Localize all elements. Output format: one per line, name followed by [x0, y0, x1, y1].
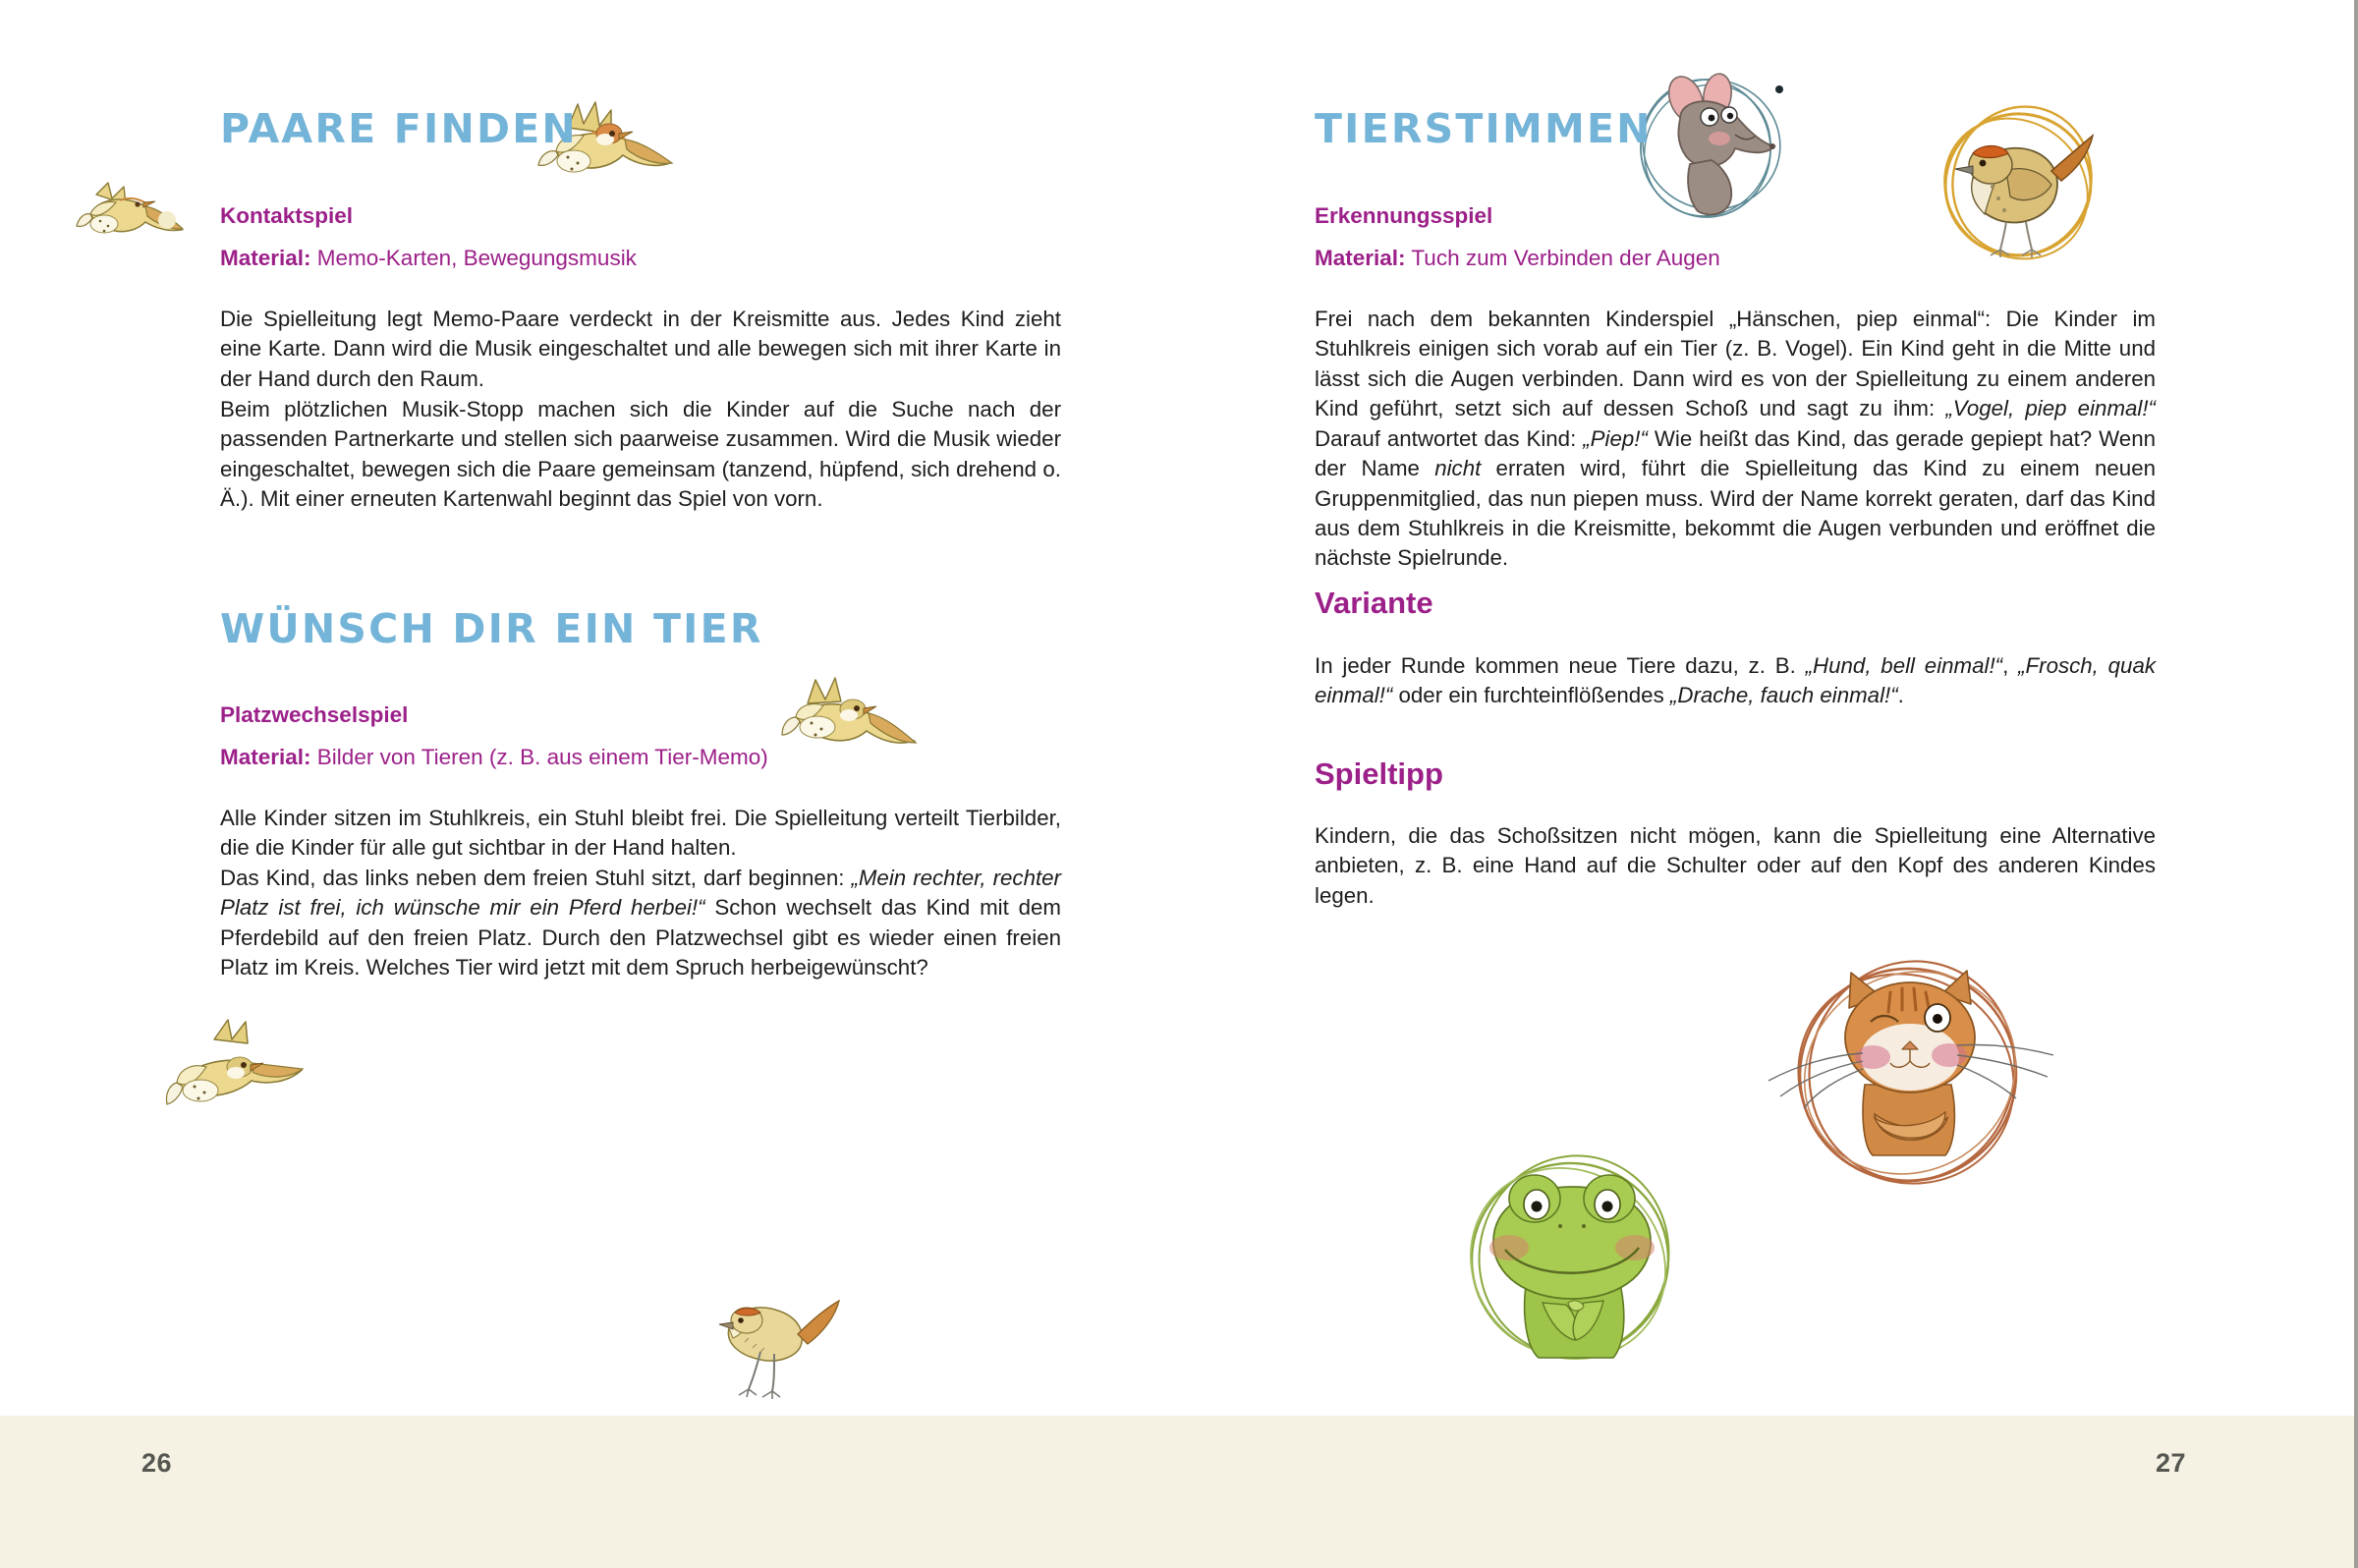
para-emph-nicht: nicht: [1434, 456, 1481, 480]
material-value: Bilder von Tieren (z. B. aus einem Tier-…: [317, 745, 768, 769]
para-quote-1: „Vogel, piep einmal!“: [1945, 396, 2156, 420]
para-seg-d: .: [1898, 683, 1904, 707]
game-title-paare-finden: PAARE FINDEN: [220, 109, 578, 149]
para-quote-1: „Hund, bell einmal!“: [1806, 653, 2003, 678]
bird-flying-mid-left-icon: [770, 666, 927, 784]
game-paragraph-1-wuensch-dir-ein-tier: Alle Kinder sitzen im Stuhlkreis, ein St…: [220, 804, 1061, 864]
material-label: Material:: [220, 246, 311, 270]
frog-in-circle-icon: [1444, 1136, 1705, 1391]
game-kind-tierstimmen: Erkennungsspiel: [1315, 202, 1492, 229]
para-seg-a: Das Kind, das links neben dem freien Stu…: [220, 866, 851, 890]
para-quote-2: „Piep!“: [1583, 426, 1648, 451]
game-material-tierstimmen: Material: Tuch zum Verbinden der Augen: [1315, 245, 1720, 271]
para-seg-b: ,: [2002, 653, 2018, 678]
page-number-left: 26: [141, 1448, 172, 1479]
para-seg-c: oder ein furchteinflößendes: [1392, 683, 1670, 707]
footer-band: [0, 1416, 2358, 1568]
page-number-right: 27: [2156, 1448, 2186, 1479]
para-seg-b: Darauf antwortet das Kind:: [1315, 426, 1583, 451]
game-paragraph-2-wuensch-dir-ein-tier: Das Kind, das links neben dem freien Stu…: [220, 864, 1061, 983]
subheading-variante: Variante: [1315, 588, 1433, 618]
game-title-wuensch-dir-ein-tier: WÜNSCH DIR EIN TIER: [220, 609, 763, 649]
game-paragraph-1-paare-finden: Die Spielleitung legt Memo-Paare verdeck…: [220, 305, 1061, 394]
spieltipp-paragraph: Kindern, die das Schoßsitzen nicht mögen…: [1315, 821, 2156, 911]
bird-flying-small-left-icon: [61, 175, 189, 268]
game-kind-wuensch-dir-ein-tier: Platzwechselspiel: [220, 701, 408, 728]
variante-paragraph: In jeder Runde kommen neue Tiere dazu, z…: [1315, 651, 2156, 711]
game-title-tierstimmen: TIERSTIMMEN: [1315, 109, 1653, 149]
material-label: Material:: [220, 745, 311, 769]
para-quote-3: „Drache, fauch einmal!“: [1670, 683, 1898, 707]
bird-flying-lower-left-icon: [157, 1012, 314, 1130]
book-page-spread: 26 27: [0, 0, 2358, 1568]
game-kind-paare-finden: Kontaktspiel: [220, 202, 353, 229]
bird-perched-bottom-icon: [703, 1277, 851, 1405]
game-material-paare-finden: Material: Memo-Karten, Bewegungsmusik: [220, 245, 637, 271]
bird-in-gold-circle-icon: [1912, 75, 2128, 286]
para-seg-a: In jeder Runde kommen neue Tiere dazu, z…: [1315, 653, 1806, 678]
game-paragraph-2-paare-finden: Beim plötzlichen Musik-Stopp machen sich…: [220, 395, 1061, 515]
material-value: Memo-Karten, Bewegungsmusik: [317, 246, 637, 270]
cat-in-circle-icon: [1753, 935, 2057, 1220]
material-label: Material:: [1315, 246, 1406, 270]
game-paragraph-tierstimmen: Frei nach dem bekannten Kinderspiel „Hän…: [1315, 305, 2156, 574]
game-material-wuensch-dir-ein-tier: Material: Bilder von Tieren (z. B. aus e…: [220, 744, 768, 770]
subheading-spieltipp: Spieltipp: [1315, 758, 1443, 789]
material-value: Tuch zum Verbinden der Augen: [1411, 246, 1719, 270]
